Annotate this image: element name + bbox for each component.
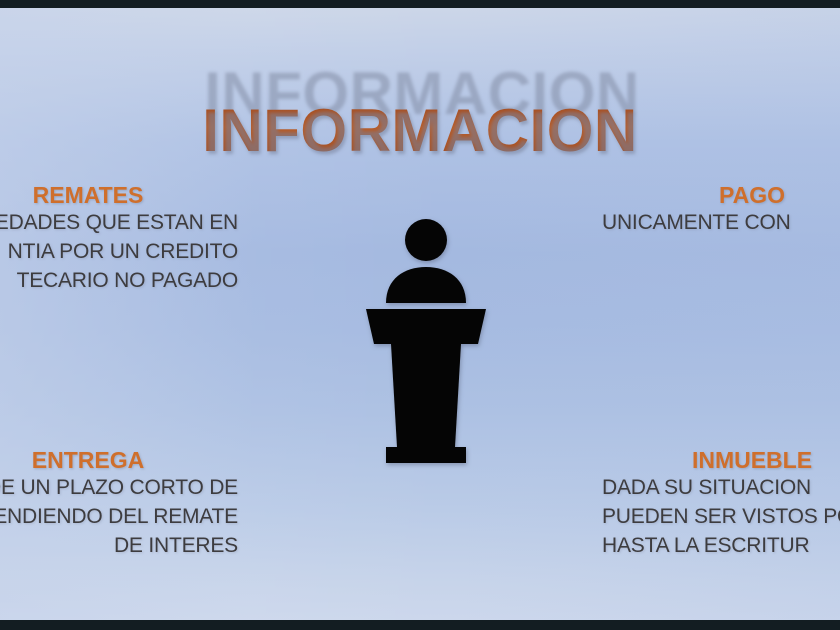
block-body-entrega: DE UN PLAZO CORTO DE EPENDIENDO DEL REMA… <box>0 473 238 560</box>
info-block-remates: REMATES PIEDADES QUE ESTAN EN NTIA POR U… <box>0 182 238 295</box>
block-line: TECARIO NO PAGADO <box>0 266 238 295</box>
block-line: PUEDEN SER VISTOS PO <box>602 502 840 531</box>
presentation-slide: INFORMACION INFORMACION REMATES PIEDADES… <box>0 0 840 630</box>
letterbox-bar-bottom <box>0 620 840 630</box>
block-body-remates: PIEDADES QUE ESTAN EN NTIA POR UN CREDIT… <box>0 208 238 295</box>
block-line: NTIA POR UN CREDITO <box>0 237 238 266</box>
info-block-pago: PAGO UNICAMENTE CON <box>602 182 840 237</box>
info-block-inmuebles: INMUEBLE DADA SU SITUACION PUEDEN SER VI… <box>602 447 840 560</box>
block-line: DE INTERES <box>0 531 238 560</box>
block-line: DADA SU SITUACION <box>602 473 840 502</box>
block-line: PIEDADES QUE ESTAN EN <box>0 208 238 237</box>
podium-speaker-icon <box>355 218 507 472</box>
slide-title: INFORMACION <box>0 96 840 165</box>
block-line: EPENDIENDO DEL REMATE <box>0 502 238 531</box>
block-line: DE UN PLAZO CORTO DE <box>0 473 238 502</box>
block-line: UNICAMENTE CON <box>602 208 840 237</box>
block-heading-remates: REMATES <box>0 182 238 208</box>
block-line: HASTA LA ESCRITUR <box>602 531 840 560</box>
block-heading-entrega: ENTREGA <box>0 447 238 473</box>
info-block-entrega: ENTREGA DE UN PLAZO CORTO DE EPENDIENDO … <box>0 447 238 560</box>
block-body-pago: UNICAMENTE CON <box>602 208 840 237</box>
block-heading-inmuebles: INMUEBLE <box>602 447 840 473</box>
block-body-inmuebles: DADA SU SITUACION PUEDEN SER VISTOS PO H… <box>602 473 840 560</box>
block-heading-pago: PAGO <box>602 182 840 208</box>
letterbox-bar-top <box>0 0 840 8</box>
